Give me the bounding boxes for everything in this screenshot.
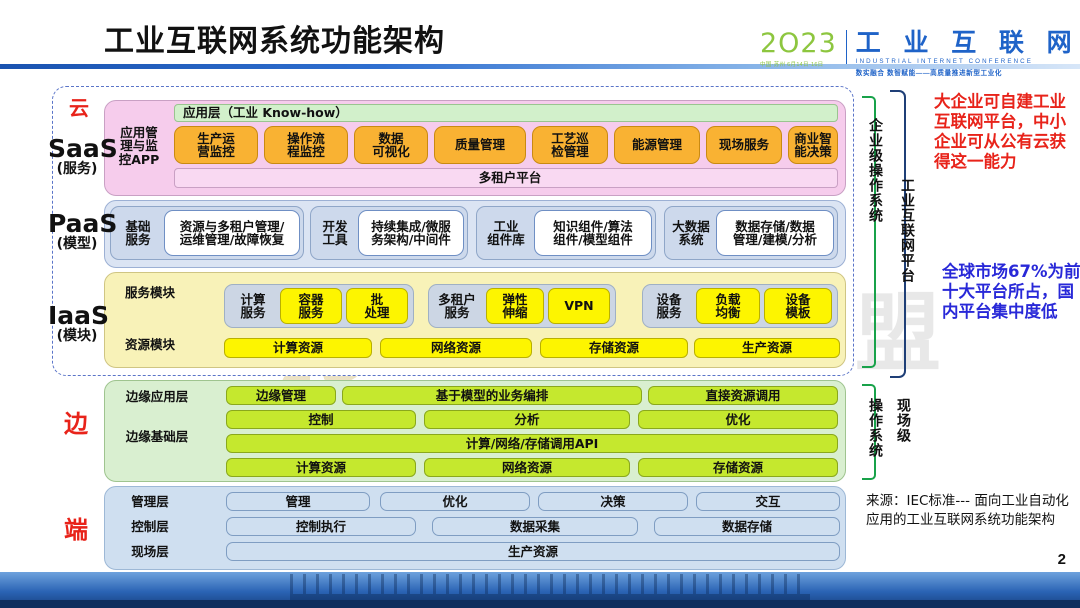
side-label-iaas-sub: (模块) [48,329,106,344]
side-label-saas-sub: (服务) [48,162,106,177]
side-label-saas: SaaS [48,136,106,162]
edge-resource-2[interactable]: 存储资源 [638,458,838,477]
edge-resource-1[interactable]: 网络资源 [424,458,630,477]
side-label-paas: PaaS [48,211,106,237]
page-number: 2 [1058,551,1066,568]
footer-skyline-decoration [290,574,810,600]
edge-api-row[interactable]: 计算/网络/存储调用API [226,434,838,453]
saas-left-label: 应用管 理与监 控APP [110,106,168,186]
iaas-resource-2[interactable]: 存储资源 [540,338,688,358]
iaas-resource-3[interactable]: 生产资源 [694,338,840,358]
slide-root: 工业互联网系统功能架构 2O23 中国·苏州 6月14日-16日 工 业 互 联… [0,0,1080,608]
paas-group-3-value[interactable]: 数据存储/数据 管理/建模/分析 [716,210,834,256]
paas-group-0-value[interactable]: 资源与多租户管理/ 运维管理/故障恢复 [164,210,300,256]
source-note: 来源：IEC标准--- 面向工业自动化应用的工业互联网系统功能架构 [866,492,1080,530]
logo-conference-name-en: INDUSTRIAL INTERNET CONFERENCE [856,58,1080,65]
saas-app-0[interactable]: 生产运 营监控 [174,126,258,164]
saas-multitenant-bar: 多租户平台 [174,168,838,188]
paas-group-2-label: 工业 组件库 [480,210,532,256]
iaas-row-label-0: 服务模块 [110,282,190,304]
logo-year: 2O23 [760,30,837,57]
iaas-service-group-2-label: 设备 服务 [644,288,694,324]
side-label-iaas: IaaS [48,303,106,329]
logo-conference-name-cn: 工 业 互 联 网 大 会 [856,30,1080,55]
paas-group-3-label: 大数据 系统 [666,210,716,256]
iaas-service-group-0-label: 计算 服务 [228,288,278,324]
end-manage-0[interactable]: 管理 [226,492,370,511]
bracket-label-field-os: 现场级 [896,398,910,443]
iaas-service-group-1-label: 多租户 服务 [430,288,484,324]
bracket-label-field-os2: 操作系统 [868,398,882,458]
side-label-edge: 边 [50,412,102,437]
end-row-label-1: 控制层 [110,517,190,537]
footer-bottom-band [0,600,1080,608]
iaas-resource-0[interactable]: 计算资源 [224,338,372,358]
paas-group-2-value[interactable]: 知识组件/算法 组件/模型组件 [534,210,652,256]
end-field-row[interactable]: 生产资源 [226,542,840,561]
bracket-label-industrial-platform: 工业互联网平台 [900,178,914,283]
saas-app-3[interactable]: 质量管理 [434,126,526,164]
iaas-service-2-item-1[interactable]: 设备 模板 [764,288,832,324]
paas-group-0-label: 基础 服务 [114,210,162,256]
edge-resource-0[interactable]: 计算资源 [226,458,416,477]
edge-app-1[interactable]: 基于模型的业务编排 [342,386,642,405]
iaas-service-0-item-0[interactable]: 容器 服务 [280,288,342,324]
annotation-blue: 全球市场67%为前十大平台所占，国内平台集中度低 [942,262,1080,322]
conference-logo: 2O23 中国·苏州 6月14日-16日 工 业 互 联 网 大 会 INDUS… [760,30,1080,77]
iaas-service-0-item-1[interactable]: 批 处理 [346,288,408,324]
end-manage-2[interactable]: 决策 [538,492,688,511]
bracket-label-enterprise-os: 企业级操作系统 [868,118,882,223]
iaas-service-1-item-0[interactable]: 弹性 伸缩 [486,288,544,324]
edge-mid-1[interactable]: 分析 [424,410,630,429]
annotation-red: 大企业可自建工业互联网平台，中小企业可从公有云获得这一能力 [934,92,1080,173]
edge-mid-0[interactable]: 控制 [226,410,416,429]
logo-conference-slogan: 数实融合 数智赋能——高质量推进新型工业化 [856,67,1080,77]
saas-app-4[interactable]: 工艺巡 检管理 [532,126,608,164]
end-control-2[interactable]: 数据存储 [654,517,840,536]
saas-app-6[interactable]: 现场服务 [706,126,782,164]
iaas-service-2-item-0[interactable]: 负载 均衡 [696,288,760,324]
end-control-1[interactable]: 数据采集 [432,517,638,536]
edge-row-label-1: 边缘基础层 [110,426,204,448]
edge-mid-2[interactable]: 优化 [638,410,838,429]
end-control-0[interactable]: 控制执行 [226,517,416,536]
iaas-row-label-1: 资源模块 [110,334,190,356]
iaas-resource-1[interactable]: 网络资源 [380,338,532,358]
footer-bar [0,572,1080,608]
logo-divider [846,30,847,64]
iaas-service-1-item-1[interactable]: VPN [548,288,610,324]
saas-app-5[interactable]: 能源管理 [614,126,700,164]
end-row-label-0: 管理层 [110,492,190,512]
edge-app-0[interactable]: 边缘管理 [226,386,336,405]
paas-group-1-label: 开发 工具 [314,210,356,256]
side-label-end: 端 [50,518,102,543]
end-manage-3[interactable]: 交互 [696,492,840,511]
edge-app-2[interactable]: 直接资源调用 [648,386,838,405]
page-title: 工业互联网系统功能架构 [104,16,445,60]
side-label-cloud: 云 [58,98,100,119]
saas-app-2[interactable]: 数据 可视化 [354,126,428,164]
end-row-label-2: 现场层 [110,542,190,562]
saas-app-layer-header: 应用层（工业 Know-how） [174,104,838,122]
paas-group-1-value[interactable]: 持续集成/微服 务架构/中间件 [358,210,464,256]
logo-year-subtitle: 中国·苏州 6月14日-16日 [760,60,837,68]
saas-app-7[interactable]: 商业智 能决策 [788,126,838,164]
edge-row-label-0: 边缘应用层 [110,386,204,408]
saas-app-1[interactable]: 操作流 程监控 [264,126,348,164]
side-label-paas-sub: (模型) [48,237,106,252]
end-manage-1[interactable]: 优化 [380,492,530,511]
